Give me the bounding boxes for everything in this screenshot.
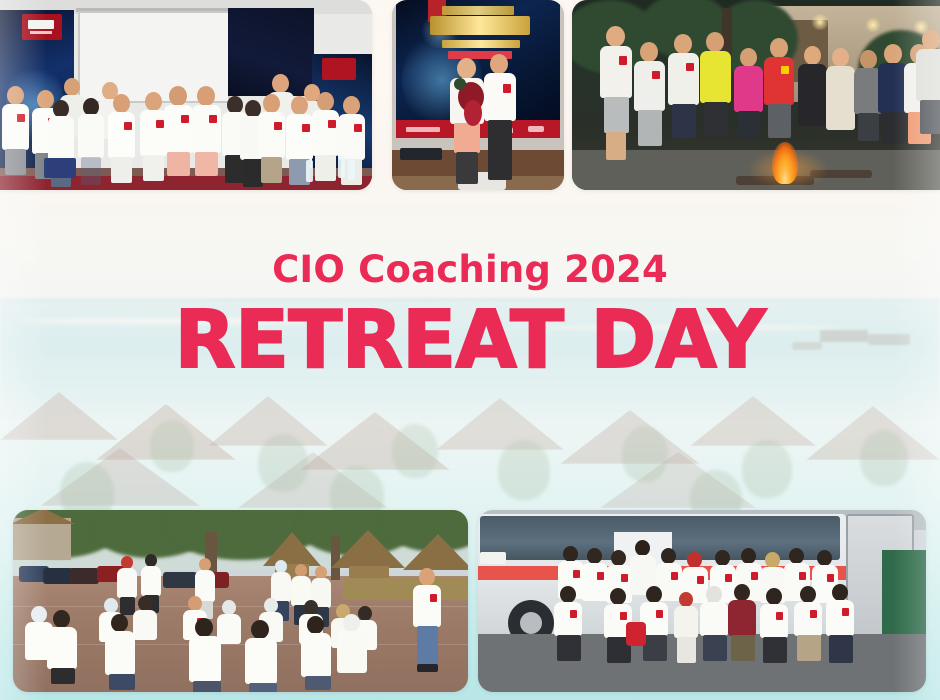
motorbike (69, 568, 99, 584)
bouquet-wrap (464, 100, 482, 126)
photo-bus-departure-group (478, 510, 926, 692)
building-left (13, 518, 71, 560)
sponsor-mark (406, 127, 440, 132)
tree-trunk (331, 536, 340, 580)
photo-bonfire-night-group (572, 0, 940, 190)
bus-wheel-hub (520, 612, 542, 634)
table-box (44, 158, 76, 178)
photo-award-ceremony (392, 0, 564, 190)
sponsor-mark (528, 126, 544, 132)
water-bottle (348, 158, 355, 180)
pavement-line (13, 606, 468, 607)
campfire-glow (748, 150, 828, 188)
water-bottle (306, 160, 313, 182)
warm-lamp (864, 18, 882, 32)
retreat-day-poster: CIO Coaching 2024 RETREAT DAY (0, 0, 940, 700)
water-bottle (338, 156, 345, 178)
banner-line-cong-nghe-thong-tin (442, 40, 520, 48)
red-backpack (626, 622, 646, 646)
poster-headline: RETREAT DAY (0, 296, 940, 384)
bus-plate (480, 552, 506, 564)
motorbike (163, 572, 197, 588)
banner-line-lanh-dao (430, 16, 530, 35)
warm-lamp (810, 14, 830, 30)
bamboo-fence (343, 578, 468, 600)
photo-logo-subtext (30, 31, 52, 34)
photo-logo-text (28, 20, 54, 29)
cio-logo-right (322, 58, 356, 80)
photo-banner-right-upper (228, 8, 314, 96)
poster-kicker: CIO Coaching 2024 (0, 248, 940, 292)
laptop (400, 148, 442, 160)
photo-asphalt (478, 634, 926, 692)
poster-title-block: CIO Coaching 2024 RETREAT DAY (0, 248, 940, 384)
banner-line-hat-giong (442, 6, 514, 15)
green-gate-fence (882, 550, 926, 636)
bouquet-leaf (454, 78, 466, 90)
photo-outdoor-circle-workshop (13, 510, 468, 692)
photo-conference-room-group (0, 0, 372, 190)
pavement-line (13, 644, 468, 645)
